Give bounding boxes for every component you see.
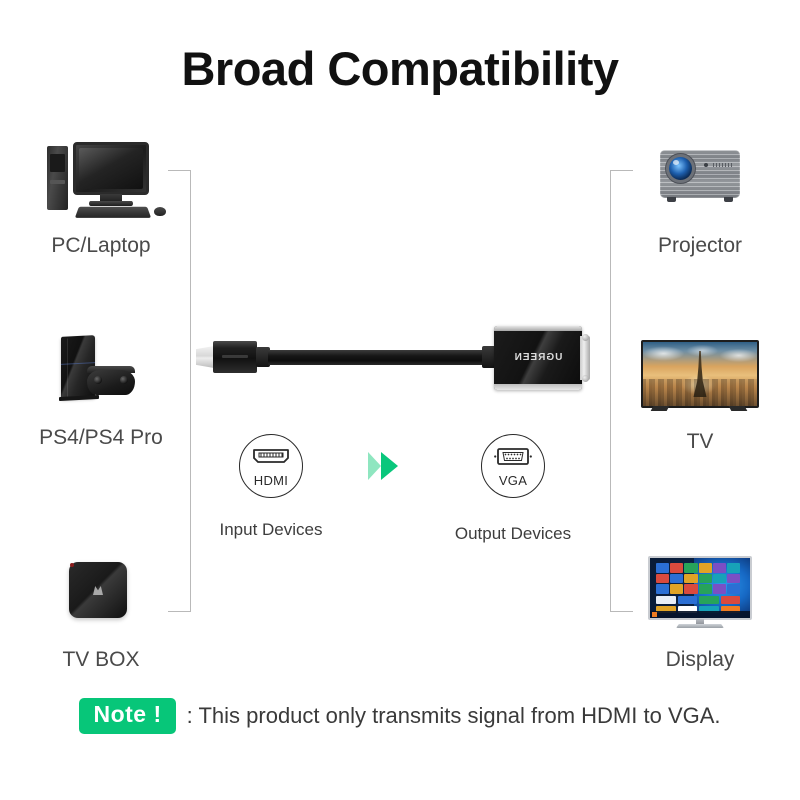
input-devices-caption: Input Devices [171, 520, 371, 540]
device-projector[interactable]: Projector [610, 138, 790, 258]
output-devices-caption: Output Devices [413, 524, 613, 544]
adapter-body: UGREEN [494, 326, 582, 390]
device-display[interactable]: Display [610, 552, 790, 672]
page-title: Broad Compatibility [0, 42, 800, 96]
hdmi-port-badge: HDMI [239, 434, 303, 498]
hdmi-plug-housing [213, 341, 257, 373]
vga-port-badge: VGA [481, 434, 545, 498]
hdmi-plug-tip [196, 346, 214, 368]
device-label: TV BOX [11, 648, 191, 672]
device-label: Projector [610, 234, 790, 258]
device-tv-box[interactable]: TV BOX [11, 552, 191, 672]
badge-port-label: HDMI [240, 473, 302, 488]
vga-port-connector [580, 336, 590, 380]
desktop-computer-icon [21, 138, 181, 224]
projector-icon [620, 138, 780, 224]
device-ps4[interactable]: PS4/PS4 Pro [11, 330, 191, 450]
brand-label: UGREEN [494, 352, 582, 363]
hdmi-to-vga-adapter-product: UGREEN [196, 322, 596, 394]
vga-thumbscrew-top [582, 334, 589, 341]
television-icon [620, 334, 780, 420]
note-text: : This product only transmits signal fro… [187, 703, 721, 729]
badge-port-label: VGA [482, 473, 544, 488]
device-label: PC/Laptop [11, 234, 191, 258]
vga-port-icon [482, 447, 544, 472]
monitor-display-icon [620, 552, 780, 638]
device-label: TV [610, 430, 790, 454]
hdmi-port-icon [240, 447, 302, 470]
double-chevron-right-icon [368, 452, 408, 482]
tv-box-icon [21, 552, 181, 638]
flat-cable [268, 350, 486, 365]
vga-thumbscrew-bottom [582, 375, 589, 382]
device-tv[interactable]: TV [610, 334, 790, 454]
game-console-icon [21, 330, 181, 416]
note-bar: Note ! : This product only transmits sig… [0, 698, 800, 734]
device-label: PS4/PS4 Pro [11, 426, 191, 450]
device-pc-laptop[interactable]: PC/Laptop [11, 138, 191, 258]
note-badge: Note ! [79, 698, 175, 734]
device-label: Display [610, 648, 790, 672]
